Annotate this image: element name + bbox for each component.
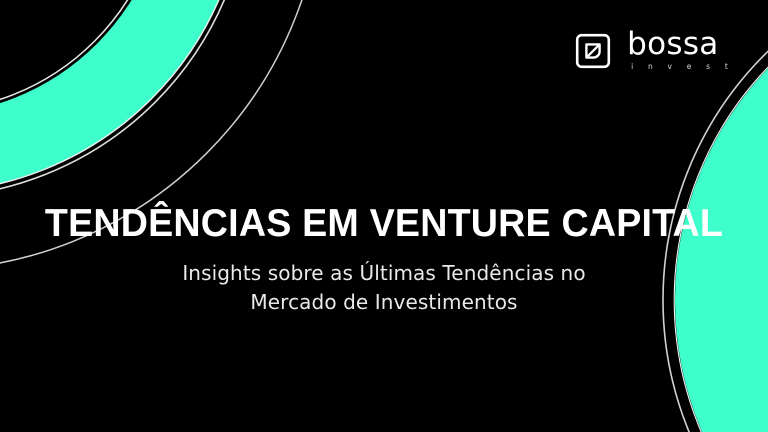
bossa-logo-mark-icon (572, 30, 614, 72)
slide-subtitle-line-2: Mercado de Investimentos (0, 288, 768, 317)
top-left-band-hairline (0, 0, 165, 112)
presentation-slide: bossa i n v e s t TENDÊNCIAS EM VENTURE … (0, 0, 768, 432)
slide-subtitle: Insights sobre as Últimas Tendências no … (0, 259, 768, 317)
slide-subtitle-line-1: Insights sobre as Últimas Tendências no (0, 259, 768, 288)
logo-tagline: i n v e s t (627, 63, 734, 71)
brand-logo: bossa i n v e s t (572, 30, 734, 72)
top-left-inner-hairline (0, 0, 246, 193)
top-left-outer-hairline (0, 0, 251, 198)
top-left-teal-arc (0, 0, 207, 154)
logo-wordmark-group: bossa i n v e s t (627, 30, 734, 71)
headline-block: TENDÊNCIAS EM VENTURE CAPITAL Insights s… (0, 203, 768, 317)
slide-title: TENDÊNCIAS EM VENTURE CAPITAL (13, 203, 754, 245)
logo-wordmark: bossa (627, 30, 734, 60)
